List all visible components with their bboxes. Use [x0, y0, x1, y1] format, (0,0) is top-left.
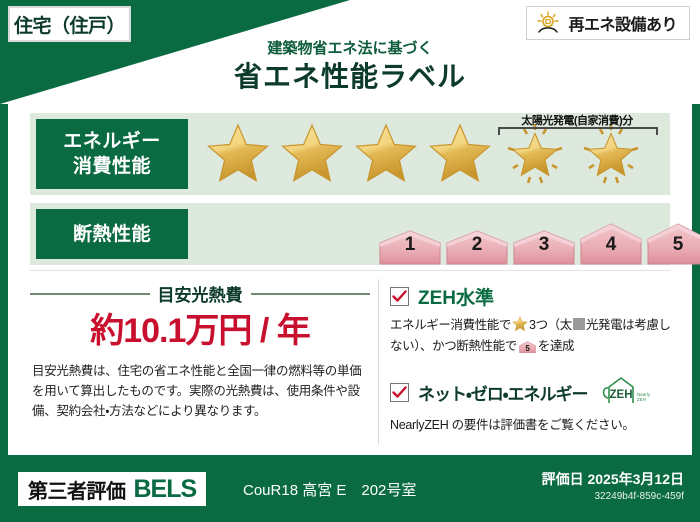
house-type-tag: 住宅（住戸）: [8, 6, 131, 42]
energy-performance-row: エネルギー 消費性能 太陽光発電(自家消費)分: [30, 113, 670, 195]
net-zero-description: NearlyZEH の要件は評価書をご覧ください。: [390, 415, 676, 435]
grade-number: 3: [512, 234, 576, 256]
check-icon: [392, 386, 407, 399]
svg-text:ZEH: ZEH: [609, 389, 632, 401]
utility-cost-value: 約10.1万円 / 年: [30, 303, 370, 352]
evaluation-date: 評価日 2025年3月12日: [542, 469, 684, 489]
grade-number: 2: [445, 234, 509, 256]
zeh-desc-part3: を達成: [538, 339, 574, 353]
insulation-performance-body: 1 2 3: [188, 203, 670, 265]
zeh-desc-part1: エネルギー消費性能で: [390, 318, 511, 332]
bels-en-label: BELS: [134, 475, 197, 504]
svg-text:ZEH: ZEH: [637, 397, 646, 402]
renewable-badge-label: 再エネ設備あり: [568, 11, 677, 35]
missing-glyph-box: [573, 318, 585, 330]
check-icon: [392, 290, 407, 303]
rule-right: [251, 293, 371, 295]
evaluation-info: 評価日 2025年3月12日 32249b4f-859c-459f: [542, 469, 684, 502]
insulation-performance-label: 断熱性能: [36, 209, 188, 259]
net-zero-checkbox[interactable]: [390, 383, 409, 402]
solar-sun-icon: [535, 11, 561, 35]
star-filled-2: [276, 118, 348, 190]
zeh-standard-description: エネルギー消費性能で3つ（太光発電は考慮しない）、かつ断熱性能で5を達成: [390, 315, 676, 361]
insulation-grade-2: 2: [445, 229, 509, 265]
bels-jp-label: 第三者評価: [28, 475, 126, 504]
energy-performance-label: エネルギー 消費性能: [36, 119, 188, 189]
insulation-performance-row: 断熱性能: [30, 203, 670, 265]
rule-left: [30, 293, 150, 295]
energy-label-line1: エネルギー: [63, 129, 161, 154]
zeh-standard-checkbox[interactable]: [390, 287, 409, 306]
section-divider: [30, 270, 670, 271]
content-card: エネルギー 消費性能 太陽光発電(自家消費)分: [8, 103, 692, 455]
insulation-grade-3: 3: [512, 229, 576, 265]
bels-badge: 第三者評価 BELS: [18, 472, 206, 506]
insulation-label-text: 断熱性能: [73, 222, 151, 247]
renewable-energy-badge: 再エネ設備あり: [526, 6, 690, 40]
zeh-standard-heading: ZEH水準: [390, 283, 676, 310]
property-name: CouR18 高宮 E 202号室: [243, 479, 416, 500]
grade-number: 4: [579, 234, 643, 256]
vertical-divider: [378, 279, 379, 445]
zeh-standard-title: ZEH水準: [418, 283, 494, 310]
star-filled-1: [202, 118, 274, 190]
zeh-section: ZEH水準 エネルギー消費性能で3つ（太光発電は考慮しない）、かつ断熱性能で5を…: [390, 283, 676, 435]
zeh-logo-icon: ZEH Nearly ZEH: [599, 375, 651, 410]
zeh-desc-stars: 3つ（太: [529, 318, 572, 332]
grade-number: 1: [378, 234, 442, 256]
star-filled-3: [350, 118, 422, 190]
solar-note-label: 太陽光発電(自家消費)分: [492, 112, 662, 128]
house-type-label: 住宅（住戸）: [14, 11, 125, 38]
evaluation-id: 32249b4f-859c-459f: [542, 491, 684, 502]
title-subtitle: 建築物省エネ法に基づく: [0, 40, 700, 58]
inline-grade-badge: 5: [519, 340, 536, 361]
utility-cost-note: 目安光熱費は、住宅の省エネ性能と全国一律の燃料等の単価を用いて算出したものです。…: [32, 361, 368, 421]
insulation-grade-4: 4: [579, 222, 643, 265]
inline-star-icon: [512, 316, 528, 332]
energy-label-line2: 消費性能: [73, 154, 151, 179]
svg-text:5: 5: [525, 344, 530, 353]
grade-number: 5: [646, 234, 700, 256]
energy-performance-label: 住宅（住戸） 再エネ設備あり 建築物省エネ法に基づく 省エネ性能ラベル エネルギ…: [0, 0, 700, 522]
insulation-grade-1: 1: [378, 229, 442, 265]
net-zero-heading: ネット・ゼロ・エネルギー ZEH Nearly ZEH: [390, 375, 676, 410]
star-filled-4: [424, 118, 496, 190]
energy-performance-body: 太陽光発電(自家消費)分: [188, 113, 670, 195]
title-block: 建築物省エネ法に基づく 省エネ性能ラベル: [0, 40, 700, 94]
insulation-grade-scale: 1 2 3: [378, 203, 664, 265]
title-main: 省エネ性能ラベル: [0, 60, 700, 94]
solar-bracket: [498, 127, 658, 135]
footer-bar: 第三者評価 BELS CouR18 高宮 E 202号室 評価日 2025年3月…: [0, 460, 700, 522]
net-zero-title: ネット・ゼロ・エネルギー: [418, 380, 588, 405]
insulation-grade-5: 5: [646, 222, 700, 265]
